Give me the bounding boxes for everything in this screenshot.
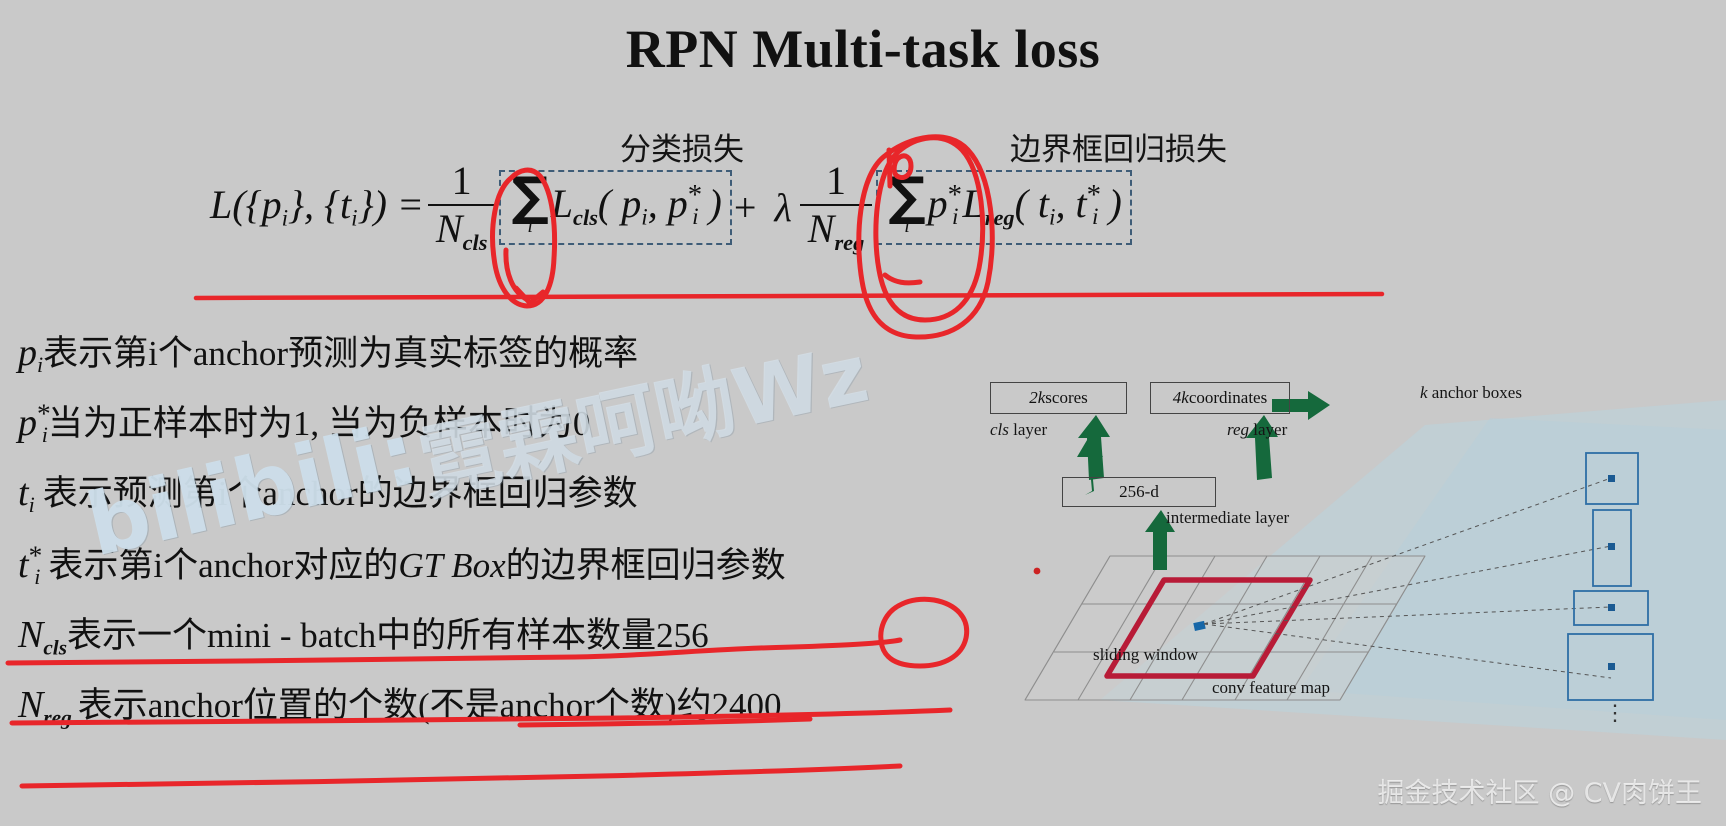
diagram-box-2k-scores: 2k scores [990,382,1127,414]
summation-reg: ∑ i [888,176,925,235]
loss-formula: L({pi}, {ti}) = 1 Ncls ∑ i Lcls( pi, p*i… [210,160,1132,254]
ncls-denominator: Ncls [428,204,496,254]
formula-lhs: L({pi}, {ti}) = [210,181,424,232]
symbol-p: pi [18,332,43,374]
slide-canvas: RPN Multi-task loss 分类损失 边界框回归损失 L({pi},… [0,0,1726,826]
definition-line-p-star: p*i当为正样本时为1, 当为负样本时为0 [18,395,590,448]
definition-line-t-star: t*i表示第i个anchor对应的GT Box的边界框回归参数 [18,537,786,590]
symbol-t-star: t*i [18,544,40,586]
diagram-vertical-dots: ⋮ [1604,700,1626,726]
nreg-denominator: Nreg [800,204,873,254]
symbol-ncls: Ncls [18,614,67,656]
credit-watermark: 掘金技术社区 @ CV肉饼王 [1378,771,1703,810]
definition-line-t: ti表示预测第i个anchor的边界框回归参数 [18,465,638,518]
definition-line-p: pi表示第i个anchor预测为真实标签的概率 [18,325,638,378]
diagram-label-sliding-window: sliding window [1093,645,1198,665]
diagram-label-cls-layer: cls layer [990,420,1047,440]
symbol-t: ti [18,472,35,514]
fraction-one-over-nreg: 1 Nreg [800,160,873,254]
diagram-label-intermediate-layer: intermediate layer [1166,508,1289,528]
cls-loss-dashed-box: ∑ i Lcls( pi, p*i ) [499,170,731,245]
diagram-label-conv-feature-map: conv feature map [1212,678,1330,698]
diagram-box-256d: 256-d [1062,477,1216,507]
reg-loss-term: p*iLreg( ti, t*i ) [928,179,1122,231]
symbol-nreg: Nreg [18,684,72,726]
symbol-p-star: p*i [18,402,48,444]
diagram-box-4k-coordinates: 4k coordinates [1150,382,1290,414]
lambda-symbol: λ [774,184,791,231]
cls-loss-term: Lcls( pi, p*i ) [551,179,722,231]
page-title: RPN Multi-task loss [0,18,1726,80]
gt-box-term: GT Box [398,546,505,585]
definition-line-ncls: Ncls表示一个mini - batch中的所有样本数量256 [18,607,709,660]
plus-operator: + [734,184,757,231]
fraction-one-over-ncls: 1 Ncls [428,160,496,254]
summation-cls: ∑ i [511,176,548,235]
definition-line-nreg: Nreg表示anchor位置的个数(不是anchor个数)约2400 [18,677,781,730]
diagram-label-k-anchor-boxes: k anchor boxes [1420,383,1522,403]
diagram-label-reg-layer: reg layer [1227,420,1287,440]
reg-loss-dashed-box: ∑ i p*iLreg( ti, t*i ) [876,170,1132,245]
